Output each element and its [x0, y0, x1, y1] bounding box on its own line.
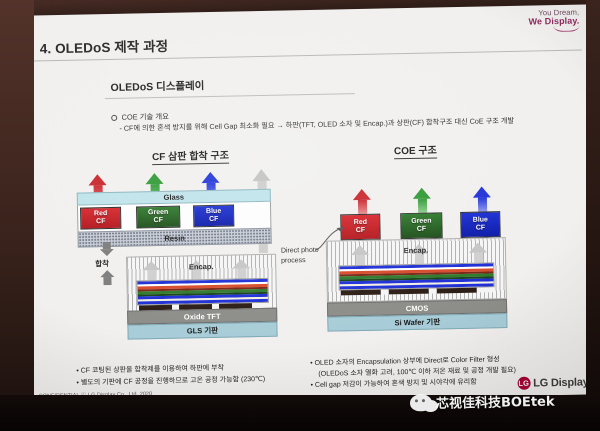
wechat-watermark: 芯视佳科技BOEtek [410, 391, 555, 413]
color-filter-blue: Blue CF [193, 205, 234, 228]
overview-bullet-label: COE 기술 개요 [122, 112, 169, 122]
cf-blue-line2: CF [209, 216, 218, 224]
page-title: 4. OLEDoS 제작 과정 [40, 35, 169, 58]
si-wafer-layer: Si Wafer 기판 [327, 313, 507, 332]
coe-cf-blue-line2: CF [476, 224, 485, 232]
section-subtitle: OLEDoS 디스플레이 [110, 78, 204, 95]
cf-green-line2: CF [154, 217, 163, 225]
swoosh-icon [553, 25, 579, 32]
oled-stack-right [338, 262, 494, 290]
right-bullet-3: • Cell gap 저감이 가능하여 혼색 방지 및 시야각에 유리함 [311, 377, 477, 390]
presentation-photo: You Dream, We Display. 4. OLEDoS 제작 과정 O… [0, 0, 600, 431]
bond-label: 합착 [95, 258, 109, 269]
coe-cf-blue-line1: Blue [473, 217, 488, 225]
coe-cf-green-line1: Green [411, 218, 431, 226]
coe-cf-red-line2: CF [356, 227, 365, 235]
oled-stack-left [136, 278, 268, 306]
lg-display-logo: LG LG Display [517, 375, 589, 389]
cf-blue-line1: Blue [206, 208, 221, 216]
overview-bullet: COE 기술 개요 [111, 111, 169, 123]
right-diagram-heading: COE 구조 [394, 141, 437, 159]
gls-substrate-layer: GLS 기판 [127, 322, 277, 340]
color-filter-green: Green CF [136, 206, 180, 229]
circle-bullet-icon [111, 115, 118, 122]
left-bullet-2: • 별도의 기판에 CF 공정을 진행하므로 고온 공정 가능함 (230℃) [76, 374, 265, 388]
cf-red-line2: CF [96, 218, 105, 226]
coe-cf-green-line2: CF [417, 226, 426, 234]
overview-detail: - CF에 의한 혼색 방지를 위해 Cell Gap 최소화 필요 → 하판(… [119, 116, 514, 134]
left-diagram-heading: CF 삼판 합착 구조 [152, 147, 229, 166]
coe-anode-seg-2 [389, 289, 429, 295]
watermark-text: 芯视佳科技BOEtek [436, 391, 555, 412]
coe-color-filter-blue: Blue CF [460, 211, 501, 238]
coe-anode-seg-3 [437, 288, 477, 294]
wechat-icon [410, 394, 432, 411]
tagline-line2: We Display. [528, 16, 579, 26]
left-bullet-1: • CF 코팅된 상판을 합착제를 이용하여 하판에 부착 [76, 363, 224, 376]
lg-logo-text: LG Display [533, 376, 589, 389]
color-filter-red: Red CF [80, 207, 121, 230]
room-wall-right [586, 0, 600, 431]
coe-anode-seg-1 [341, 290, 381, 296]
lg-logo-mark: LG [517, 377, 530, 390]
brand-tagline: You Dream, We Display. [528, 9, 579, 33]
room-wall-left [0, 0, 34, 431]
callout-line2: process [281, 256, 319, 267]
cf-green-line1: Green [148, 209, 168, 217]
presentation-slide: You Dream, We Display. 4. OLEDoS 제작 과정 O… [21, 4, 599, 405]
coe-color-filter-green: Green CF [400, 212, 443, 239]
